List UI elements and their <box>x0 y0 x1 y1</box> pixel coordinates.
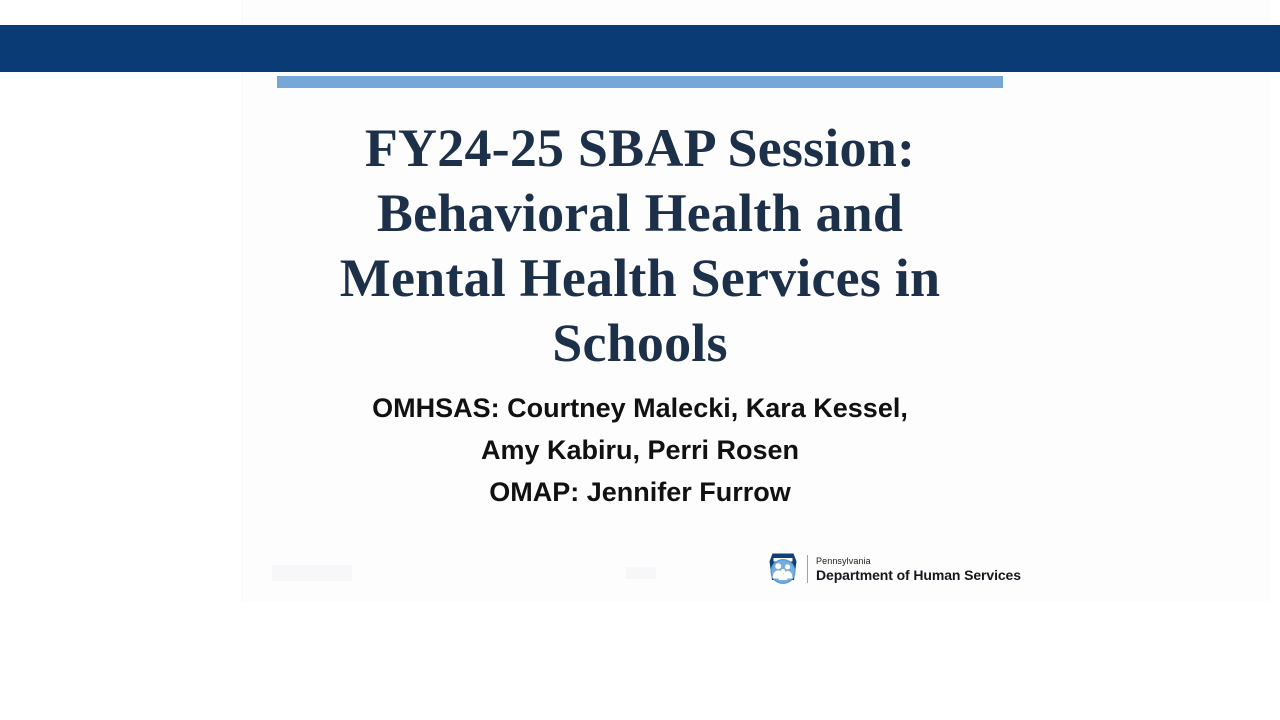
title-line-3: Mental Health Services in <box>240 246 1040 311</box>
logo-divider <box>807 555 808 583</box>
title-line-2: Behavioral Health and <box>240 181 1040 246</box>
dhs-logo-lockup: Pennsylvania Department of Human Service… <box>765 550 1021 588</box>
slide-ghost-block-left <box>272 565 352 581</box>
presentation-slide: FY24-25 SBAP Session: Behavioral Health … <box>0 0 1280 720</box>
presenter-line-2: Amy Kabiru, Perri Rosen <box>240 429 1040 471</box>
logo-wordmark: Pennsylvania Department of Human Service… <box>816 557 1021 582</box>
title-line-1: FY24-25 SBAP Session: <box>240 116 1040 181</box>
slide-title: FY24-25 SBAP Session: Behavioral Health … <box>240 116 1040 376</box>
presenter-line-1: OMHSAS: Courtney Malecki, Kara Kessel, <box>240 387 1040 429</box>
slide-ghost-block-right <box>626 567 656 579</box>
top-navy-band <box>0 25 1280 72</box>
logo-department-label: Department of Human Services <box>816 568 1021 582</box>
slide-presenters: OMHSAS: Courtney Malecki, Kara Kessel, A… <box>240 387 1040 513</box>
title-accent-bar <box>277 76 1003 88</box>
pennsylvania-keystone-dhs-icon <box>765 550 801 588</box>
title-line-4: Schools <box>240 311 1040 376</box>
logo-state-label: Pennsylvania <box>816 557 1021 566</box>
presenter-line-3: OMAP: Jennifer Furrow <box>240 471 1040 513</box>
